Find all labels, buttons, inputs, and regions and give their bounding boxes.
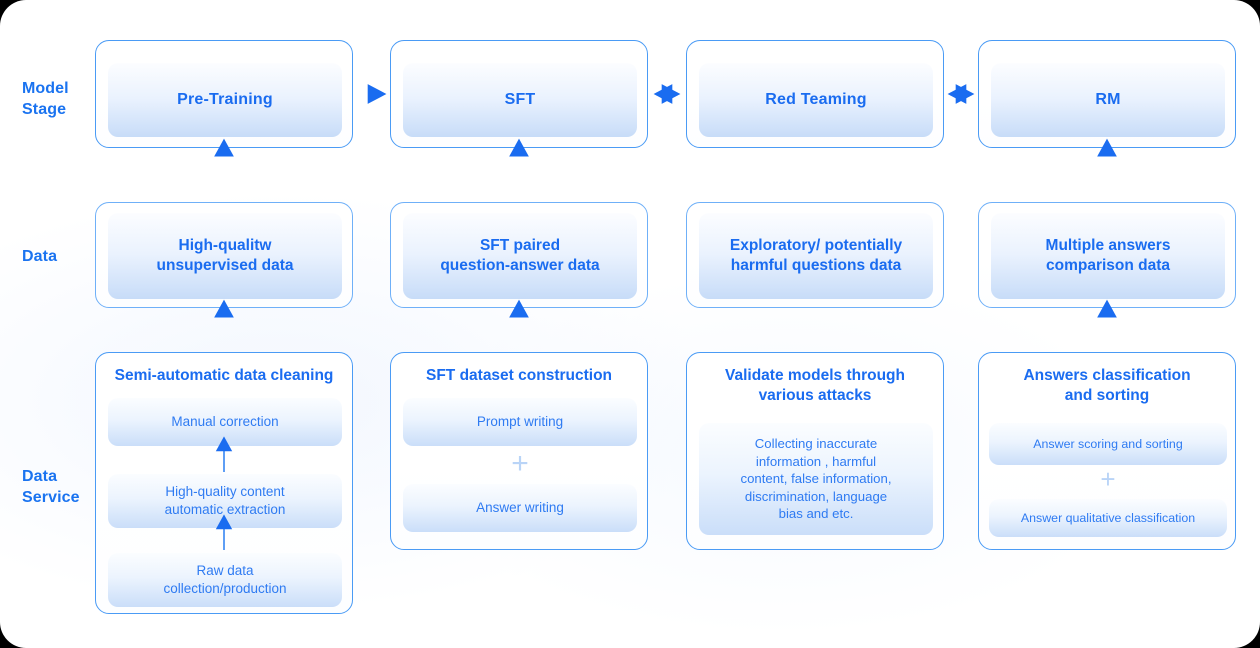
data-service-item-answer-writing[interactable]: Answer writing [403,484,637,532]
data-label-4-line2: comparison data [1046,256,1170,276]
data-label-4-line1: Multiple answers [1046,236,1171,256]
data-service-card-semi-automatic-data-cleaning[interactable]: Semi-automatic data cleaning Manual corr… [95,352,353,614]
data-card-exploratory-harmful[interactable]: Exploratory/ potentially harmful questio… [686,202,944,308]
data-service-title-3: Validate models through various attacks [687,366,943,406]
data-service-card-sft-dataset-construction[interactable]: SFT dataset construction Prompt writing … [390,352,648,550]
data-label-1-line1: High-qualitw [179,236,272,256]
data-label-2-line1: SFT paired [480,236,560,256]
title-line1: Validate models through [687,366,943,386]
data-service-item-high-quality-content-automatic-extraction[interactable]: High-quality content automatic extractio… [108,474,342,528]
item-line1: Collecting inaccurate [755,435,877,453]
plus-separator-icon: + [403,449,637,479]
title-line2: various attacks [687,386,943,406]
data-label-3-line2: harmful questions data [731,256,902,276]
row-label-data: Data [22,246,57,267]
item-line3: content, false information, [740,470,891,488]
model-stage-card-pre-training[interactable]: Pre-Training [95,40,353,148]
data-card-multiple-answers-comparison[interactable]: Multiple answers comparison data [978,202,1236,308]
item-line1: High-quality content [165,483,284,501]
data-service-item-prompt-writing[interactable]: Prompt writing [403,398,637,446]
data-service-card-validate-models-through-various-attacks[interactable]: Validate models through various attacks … [686,352,944,550]
item-line1: Raw data [196,562,253,580]
title-line2: and sorting [979,386,1235,406]
item-line5: bias and etc. [779,505,854,523]
row-label-data-service: Data Service [22,466,80,508]
data-service-title-2: SFT dataset construction [391,366,647,386]
model-stage-card-red-teaming[interactable]: Red Teaming [686,40,944,148]
data-service-title-4: Answers classification and sorting [979,366,1235,406]
item-line2: automatic extraction [165,501,286,519]
row-label-data-text: Data [22,246,57,267]
model-stage-card-sft[interactable]: SFT [390,40,648,148]
data-service-item-answer-scoring-and-sorting[interactable]: Answer scoring and sorting [989,423,1227,465]
model-stage-label-rm: RM [991,63,1225,137]
row-label-data-service-line1: Data [22,466,80,487]
model-stage-label-sft: SFT [403,63,637,137]
data-service-item-answer-qualitative-classification[interactable]: Answer qualitative classification [989,499,1227,537]
data-label-2-line2: question-answer data [440,256,599,276]
data-service-title-1: Semi-automatic data cleaning [96,366,352,386]
data-service-card-answers-classification-and-sorting[interactable]: Answers classification and sorting Answe… [978,352,1236,550]
item-line2: information , harmful [756,453,876,471]
data-label-3-line1: Exploratory/ potentially [730,236,902,256]
item-line4: discrimination, language [745,488,887,506]
item-line2: collection/production [163,580,286,598]
model-stage-label-red-teaming: Red Teaming [699,63,933,137]
plus-separator-icon: + [989,466,1227,492]
model-stage-card-rm[interactable]: RM [978,40,1236,148]
diagram-canvas: Model Stage Data Data Service Pre-Traini… [0,0,1260,648]
data-card-high-quality-unsupervised[interactable]: High-qualitw unsupervised data [95,202,353,308]
row-label-model-stage-line1: Model [22,78,69,99]
model-stage-label-pre-training: Pre-Training [108,63,342,137]
data-service-item-manual-correction[interactable]: Manual correction [108,398,342,446]
row-label-data-service-line2: Service [22,487,80,508]
data-service-item-raw-data-collection-production[interactable]: Raw data collection/production [108,553,342,607]
data-service-item-collecting-inaccurate-information[interactable]: Collecting inaccurate information , harm… [699,423,933,535]
row-label-model-stage: Model Stage [22,78,69,120]
title-line1: Answers classification [979,366,1235,386]
data-card-sft-paired-qa[interactable]: SFT paired question-answer data [390,202,648,308]
row-label-model-stage-line2: Stage [22,99,69,120]
data-label-1-line2: unsupervised data [157,256,294,276]
